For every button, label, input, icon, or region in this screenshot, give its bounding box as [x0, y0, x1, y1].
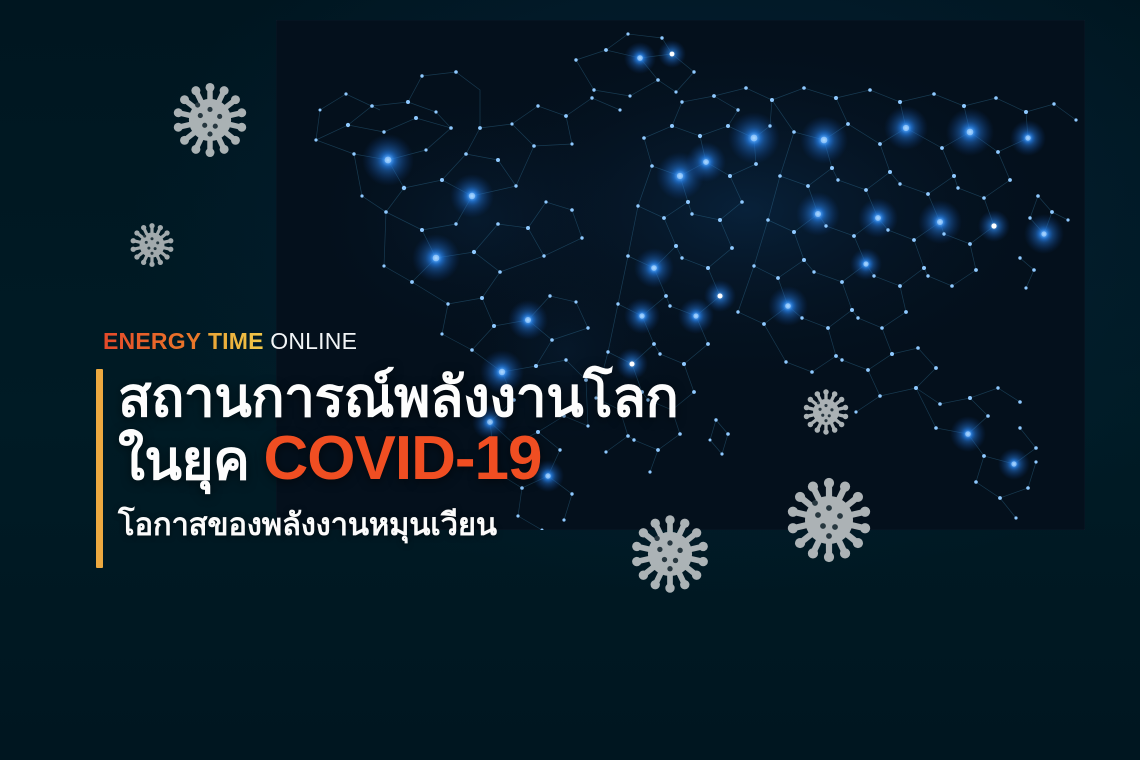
- virus-icon-top-left-large: [166, 76, 254, 164]
- virus-icon-bottom-center: [624, 508, 716, 600]
- brand-kicker: ENERGY TIME ONLINE: [103, 330, 796, 353]
- banner-root: ENERGY TIME ONLINE สถานการณ์พลังงานโลก ใ…: [0, 0, 1140, 760]
- headline-line-2: ในยุคCOVID-19: [118, 427, 796, 490]
- virus-icon-center-small: [799, 385, 853, 439]
- brand-word-online: ONLINE: [270, 328, 357, 354]
- accent-bar: [96, 369, 103, 568]
- headline-line-1: สถานการณ์พลังงานโลก: [118, 369, 796, 425]
- brand-word-energy: ENERGY: [103, 328, 201, 354]
- headline-line-2-prefix: ในยุค: [118, 429, 249, 491]
- brand-word-time: TIME: [208, 328, 264, 354]
- virus-icon-bottom-right: [779, 470, 879, 570]
- headline-covid-highlight: COVID-19: [263, 424, 541, 493]
- virus-icon-mid-left-small: [126, 219, 178, 271]
